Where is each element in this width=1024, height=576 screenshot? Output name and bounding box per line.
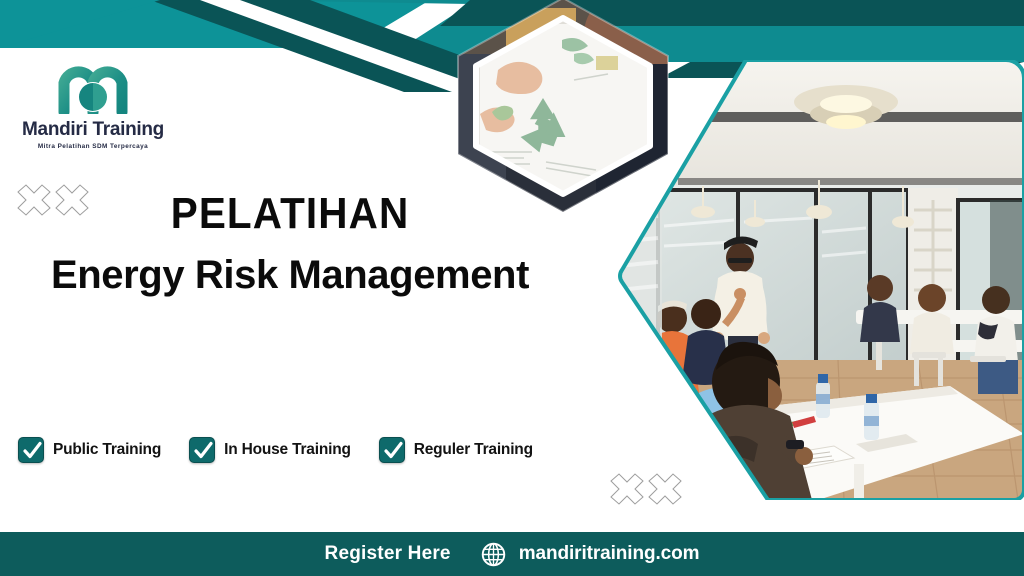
training-poster: Mandiri Training Mitra Pelatihan SDM Ter… — [0, 0, 1024, 576]
brand-tagline: Mitra Pelatihan SDM Terpercaya — [18, 143, 168, 150]
checkbox-checked-icon[interactable] — [18, 437, 44, 463]
training-option-label: In House Training — [224, 441, 351, 459]
training-options-list: Public Training In House Training Regule… — [18, 437, 533, 463]
website-group[interactable]: mandiritraining.com — [481, 542, 700, 567]
classroom-training-photo — [618, 60, 1024, 500]
page-title: Energy Risk Management — [0, 253, 580, 297]
checkbox-checked-icon[interactable] — [189, 437, 215, 463]
brand-logo: Mandiri Training Mitra Pelatihan SDM Ter… — [18, 62, 168, 150]
mandiri-m-monogram-icon — [58, 62, 128, 114]
footer-bar: Register Here mandiritraining.com — [0, 532, 1024, 576]
globe-icon — [481, 542, 506, 567]
website-url[interactable]: mandiritraining.com — [519, 543, 700, 565]
training-option-label: Public Training — [53, 441, 161, 459]
training-option-reguler[interactable]: Reguler Training — [379, 437, 533, 463]
brand-name: Mandiri Training — [18, 120, 168, 139]
checkbox-checked-icon[interactable] — [379, 437, 405, 463]
training-option-label: Reguler Training — [414, 441, 533, 459]
register-cta-label[interactable]: Register Here — [325, 543, 451, 565]
training-option-public[interactable]: Public Training — [18, 437, 161, 463]
training-option-in-house[interactable]: In House Training — [189, 437, 351, 463]
x-cross-decoration-right — [607, 472, 685, 516]
